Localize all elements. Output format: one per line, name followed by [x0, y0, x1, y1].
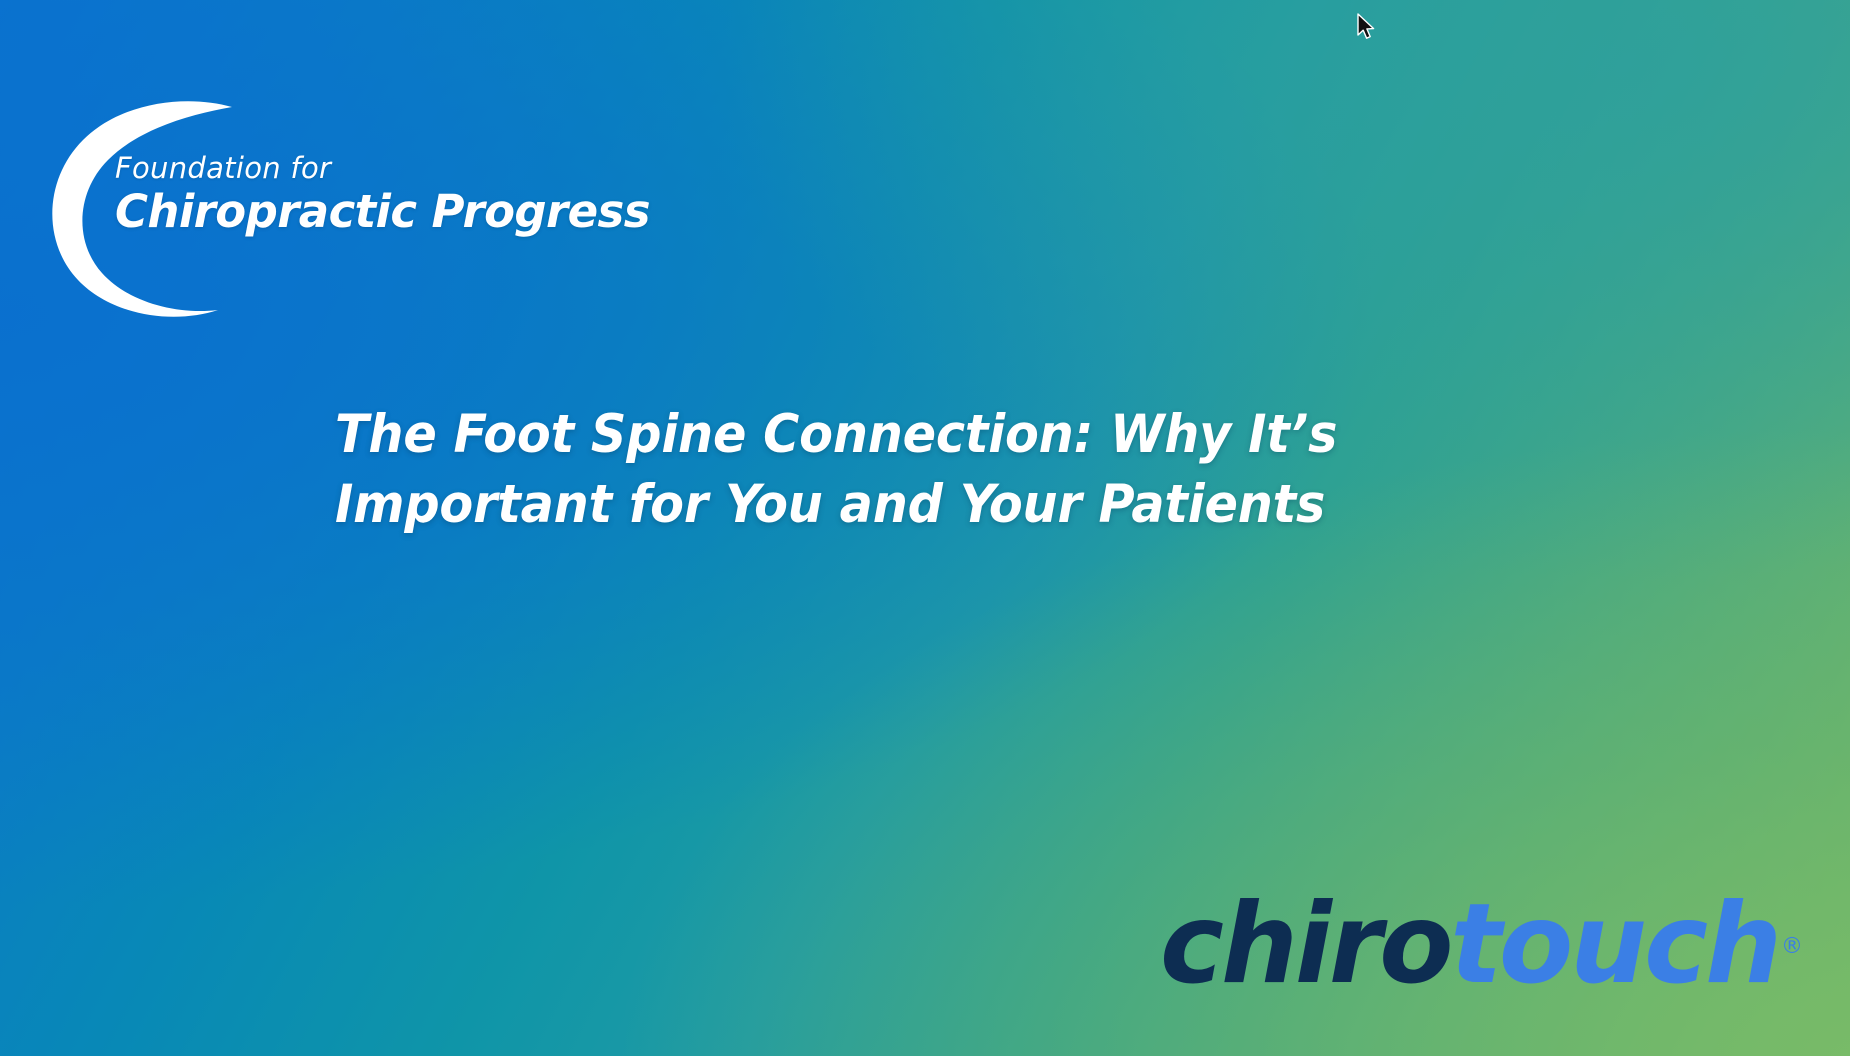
foundation-chiropractic-progress-logo: Foundation for Chiropractic Progress [36, 96, 536, 321]
registered-trademark-icon: ® [1781, 934, 1803, 960]
fcp-tagline: Foundation for [115, 154, 545, 183]
fcp-name: Chiropractic Progress [115, 188, 545, 237]
fcp-wordmark: Foundation for Chiropractic Progress [115, 154, 545, 237]
chirotouch-logo: chirotouch® [1160, 890, 1840, 1012]
slide-title-line-1: The Foot Spine Connection: Why It’s [335, 400, 1265, 470]
presentation-slide: Foundation for Chiropractic Progress The… [0, 0, 1850, 1056]
slide-title: The Foot Spine Connection: Why It’s Impo… [335, 400, 1265, 541]
slide-title-line-2: Important for You and Your Patients [335, 470, 1265, 540]
chirotouch-logo-touch: touch [1450, 881, 1779, 1009]
chirotouch-logo-chiro: chiro [1160, 881, 1450, 1009]
